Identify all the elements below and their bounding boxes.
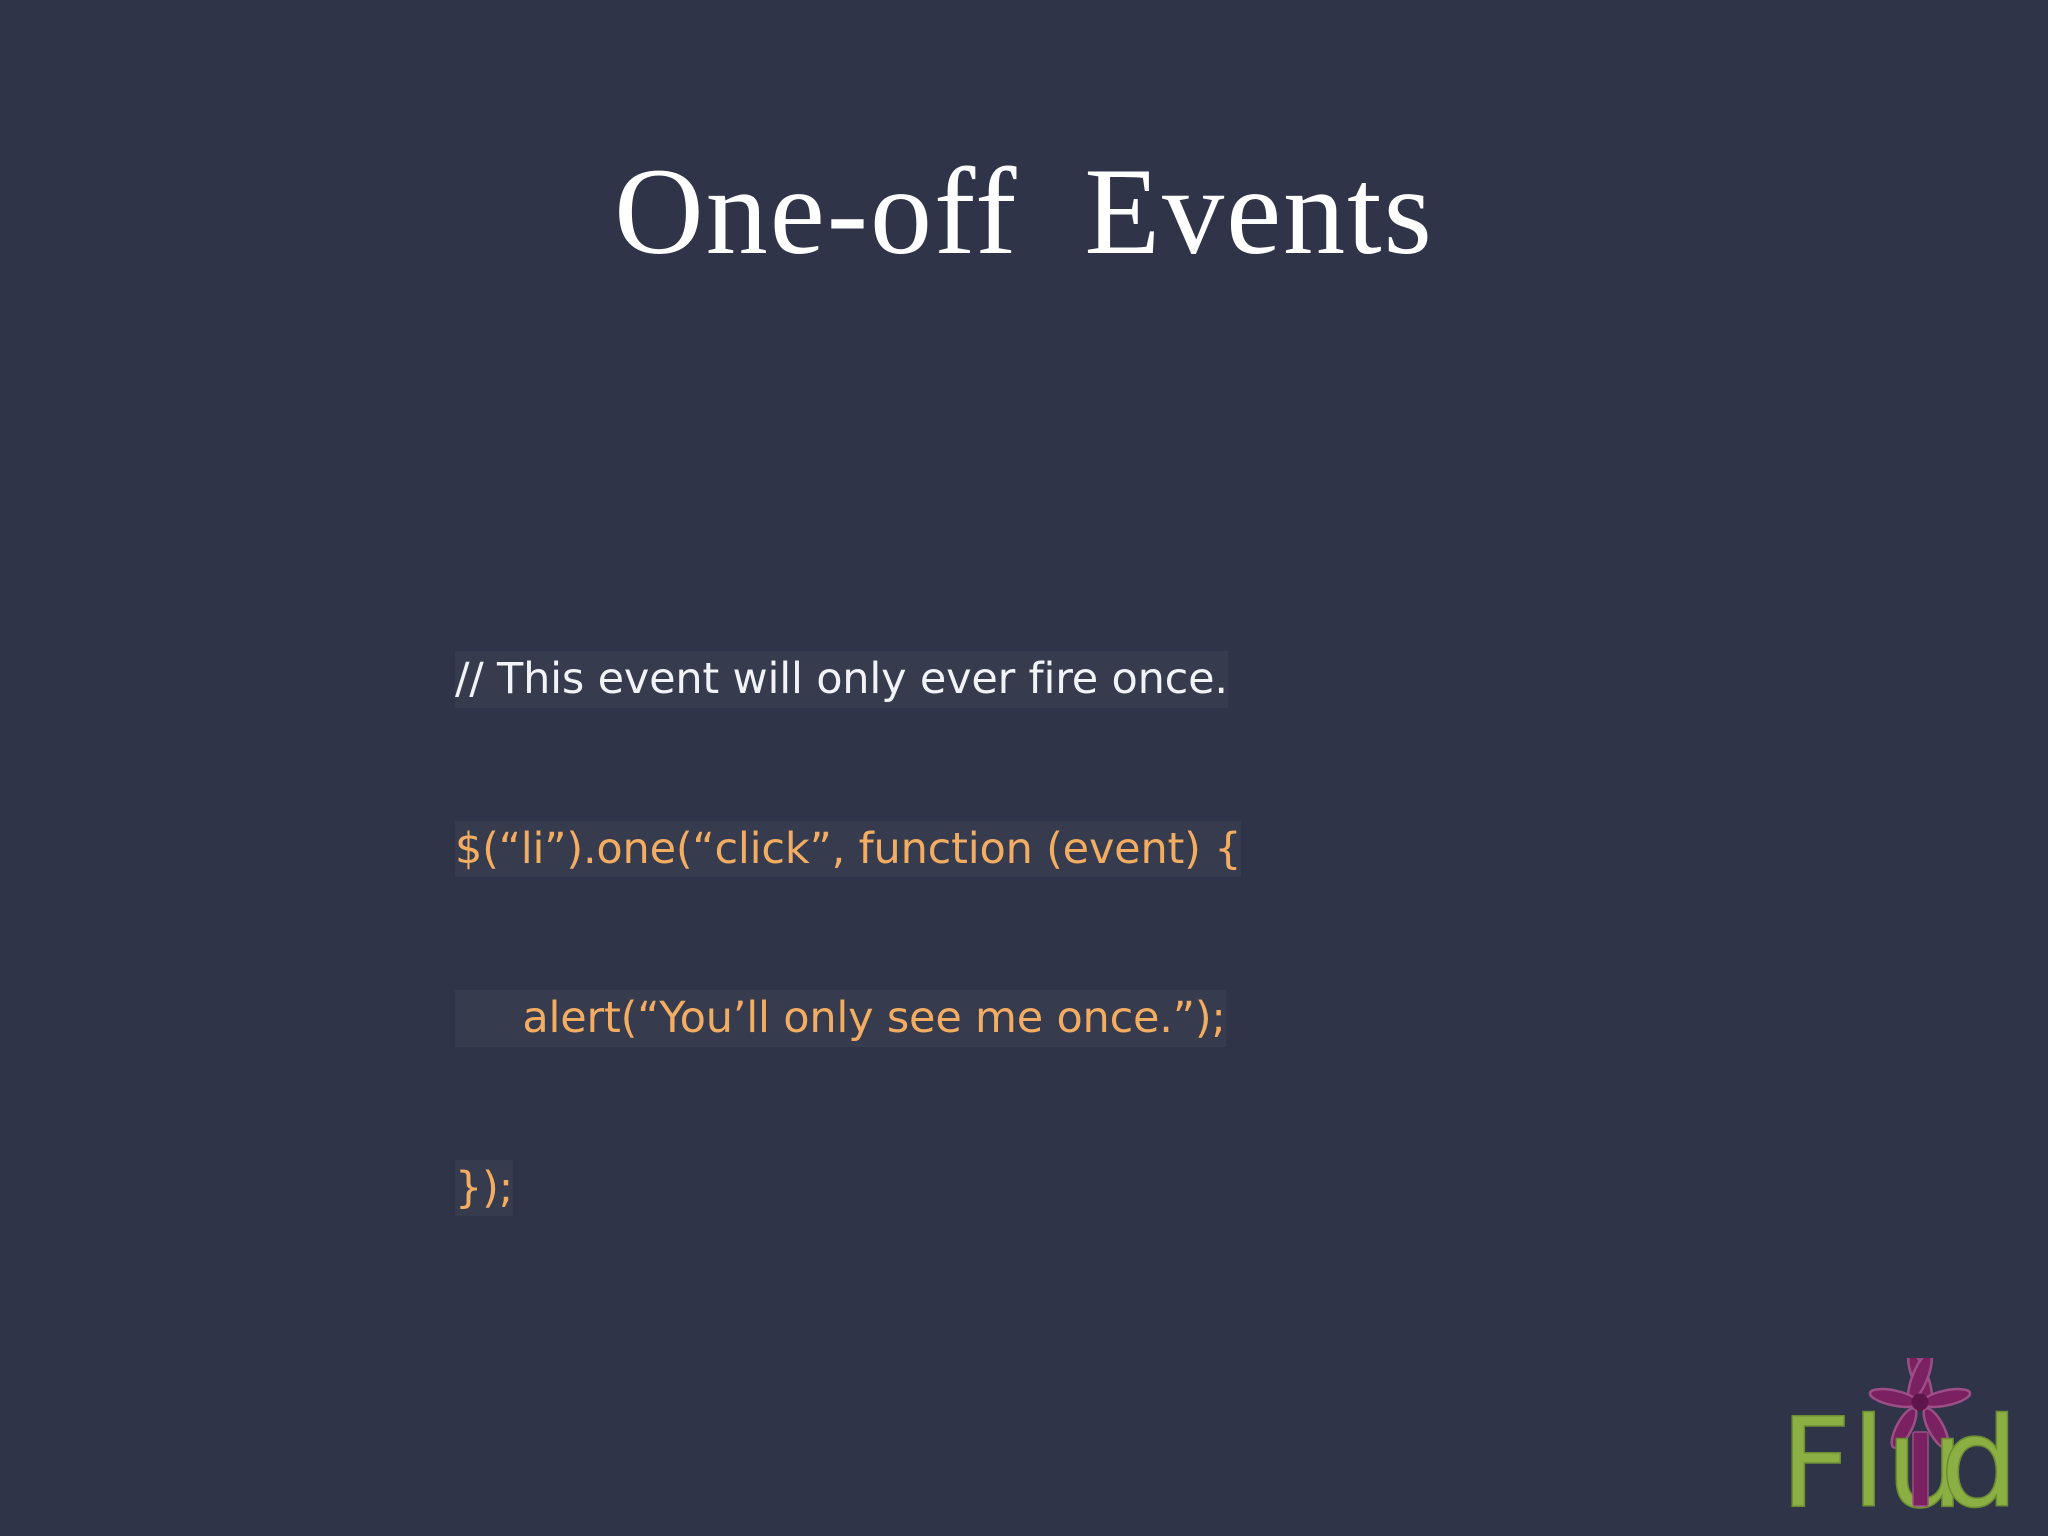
code-line: $(“li”).one(“click”, function (event) { [455, 821, 1241, 878]
code-line: // This event will only ever fire once. [455, 651, 1228, 708]
code-area: // This event will only ever fire once. … [455, 538, 1555, 1536]
code-line: alert(“You’ll only see me once.”); [455, 990, 1226, 1047]
code-line: }); [455, 1160, 513, 1217]
logo-i-stem [1913, 1432, 1928, 1506]
code-block-one-off-example: // This event will only ever fire once. … [455, 538, 1555, 1329]
slide-canvas: One-off Events // This event will only e… [0, 0, 2048, 1536]
logo-text-d: d [1940, 1392, 2019, 1528]
page-title: One-off Events [0, 150, 2048, 274]
logo-text-flu: Flu [1780, 1392, 1964, 1528]
fluid-logo: Flu d [1772, 1358, 2032, 1528]
code-block-verbose-example: // A more awkward, verbose version: var … [455, 1498, 1555, 1536]
